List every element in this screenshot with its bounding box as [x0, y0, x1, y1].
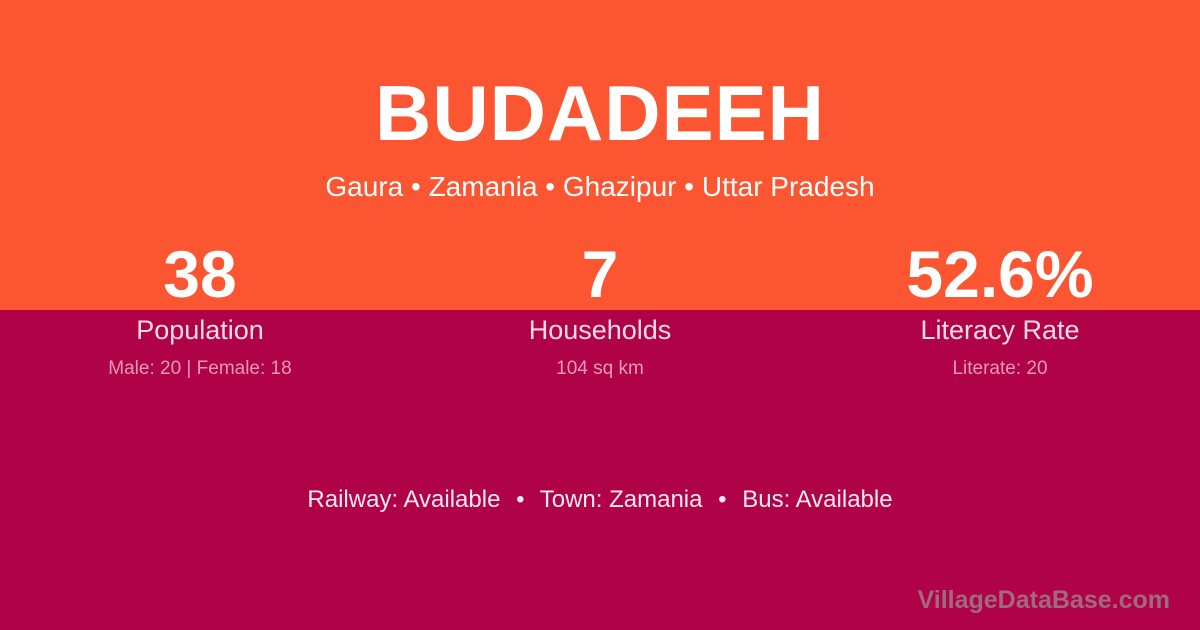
title-block: BUDADEEH Gaura • Zamania • Ghazipur • Ut… — [0, 0, 1200, 203]
village-title: BUDADEEH — [0, 0, 1200, 150]
village-info-card: BUDADEEH Gaura • Zamania • Ghazipur • Ut… — [0, 0, 1200, 630]
stat-sublabel: Male: 20 | Female: 18 — [0, 346, 400, 380]
village-location-breadcrumb: Gaura • Zamania • Ghazipur • Uttar Prade… — [0, 150, 1200, 203]
stat-sublabel: Literate: 20 — [800, 346, 1200, 380]
stat-label: Literacy Rate — [800, 310, 1200, 346]
stat-label: Population — [0, 310, 400, 346]
stat-population: 38 Population Male: 20 | Female: 18 — [0, 238, 400, 380]
stat-sublabel: 104 sq km — [400, 346, 800, 380]
facility-railway: Railway: Available — [307, 486, 500, 513]
stat-households: 7 Households 104 sq km — [400, 238, 800, 380]
facility-nearest-town: Town: Zamania — [540, 486, 703, 513]
stat-literacy-rate: 52.6% Literacy Rate Literate: 20 — [800, 238, 1200, 380]
stat-value: 38 — [0, 238, 400, 310]
stat-value: 7 — [400, 238, 800, 310]
facilities-strip: Railway: Available • Town: Zamania • Bus… — [0, 485, 1200, 515]
stats-row: 38 Population Male: 20 | Female: 18 7 Ho… — [0, 238, 1200, 380]
stat-value: 52.6% — [800, 238, 1200, 310]
stat-label: Households — [400, 310, 800, 346]
site-brand-watermark: VillageDataBase.com — [918, 584, 1170, 616]
facility-bus: Bus: Available — [742, 486, 892, 513]
bullet-separator-icon: • — [709, 486, 735, 513]
bullet-separator-icon: • — [507, 486, 533, 513]
